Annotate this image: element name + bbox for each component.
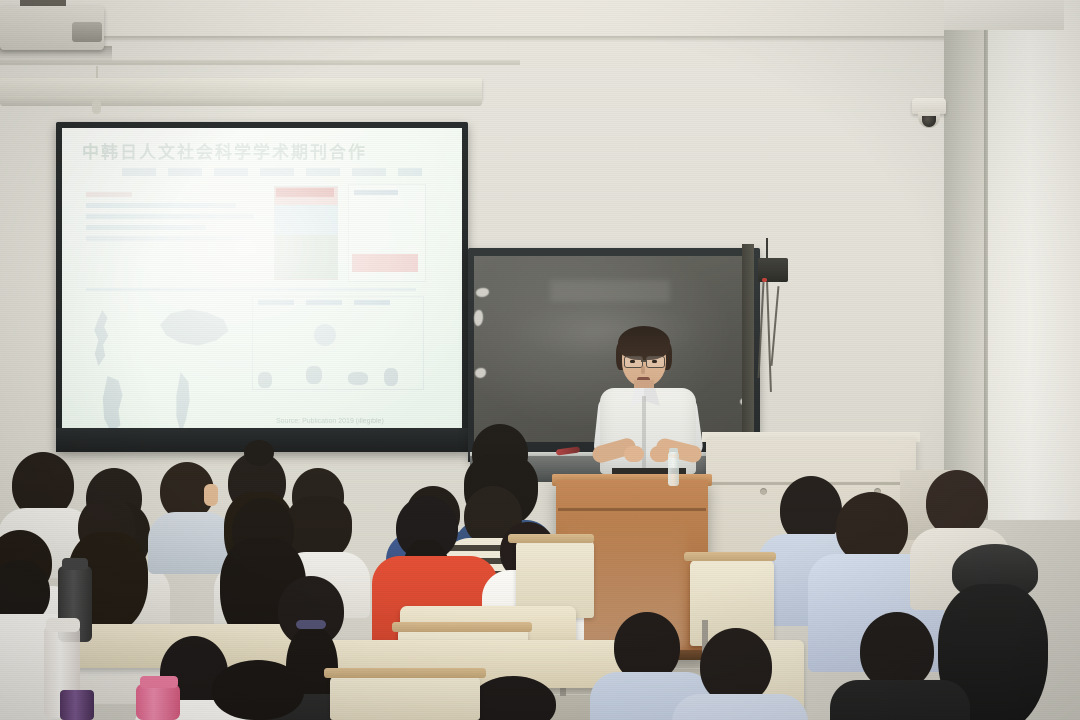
slide-icon-2 (306, 366, 322, 384)
water-bottle-podium[interactable] (668, 452, 679, 486)
lecturer (596, 330, 704, 490)
map-taiwan (168, 372, 198, 428)
slide-diagram-panel (252, 296, 424, 390)
slide-icon-1 (258, 372, 272, 388)
bottle-pink-cap (140, 676, 178, 688)
sunlit-wall (988, 0, 1080, 520)
slide-credit-line: Source: Publication 2019 (illegible) (276, 418, 436, 425)
slide-diagram-node (314, 324, 336, 346)
map-china (154, 304, 230, 356)
lecturer-nose (641, 366, 645, 374)
bottle-black-cap (62, 558, 88, 570)
podium-seam (558, 508, 706, 511)
lecturer-eye-left (630, 360, 635, 363)
lecturer-hair (618, 326, 670, 360)
screen-roller-lip (0, 96, 482, 106)
slide-book-band (276, 188, 334, 197)
cabinet-handle-left[interactable] (760, 488, 767, 495)
projection-screen[interactable]: 中韩日人文社会科学学术期刊合作 Source: Publication 2019… (62, 128, 462, 428)
lecturer-hand-right (650, 446, 670, 462)
bottle-clear-cap (46, 618, 80, 632)
seat-arm-2 (684, 552, 776, 561)
glasses-bridge (641, 360, 647, 362)
bottle-pink[interactable] (136, 684, 180, 720)
map-japan (88, 310, 114, 366)
pillar-top (944, 0, 1064, 30)
slide-diagram-header-1 (258, 300, 294, 305)
screen-cord-knob[interactable] (92, 100, 101, 114)
slide-diagram-header-2 (306, 300, 342, 305)
projector-lens (72, 22, 102, 42)
ceiling (0, 0, 1080, 40)
slide-panel-button (352, 254, 418, 272)
slide-panel-heading (354, 190, 398, 195)
antenna-icon (766, 238, 768, 260)
seat-front-1[interactable] (330, 676, 480, 720)
slide-divider (86, 288, 416, 291)
slide-title: 中韩日人文社会科学学术期刊合作 (82, 138, 448, 160)
slide-icon-3 (348, 372, 368, 385)
seat-arm-4 (392, 622, 532, 632)
lecture-hall-photo: 中韩日人文社会科学学术期刊合作 Source: Publication 2019… (0, 0, 1080, 720)
cable-conduit (742, 244, 754, 464)
lecturer-hand-left (624, 446, 644, 462)
bottle-purple[interactable] (60, 690, 94, 720)
slide-text-block (86, 192, 266, 247)
lecturer-eye-right (652, 360, 657, 363)
hair-tie (296, 620, 326, 629)
ceiling-shadow (0, 36, 1080, 42)
slide-diagram-header-3 (354, 300, 390, 305)
student-hand-raised (204, 484, 218, 506)
slide-icon-4 (384, 368, 398, 386)
map-korea (96, 376, 130, 428)
slide-subheader-bar (122, 168, 422, 176)
slide-book-cover (274, 186, 338, 280)
lecturer-shirt-placket (642, 396, 646, 474)
seat-arm-front-1 (324, 668, 486, 678)
blackboard-smudge (550, 280, 670, 302)
seat-arm-1 (508, 534, 594, 543)
